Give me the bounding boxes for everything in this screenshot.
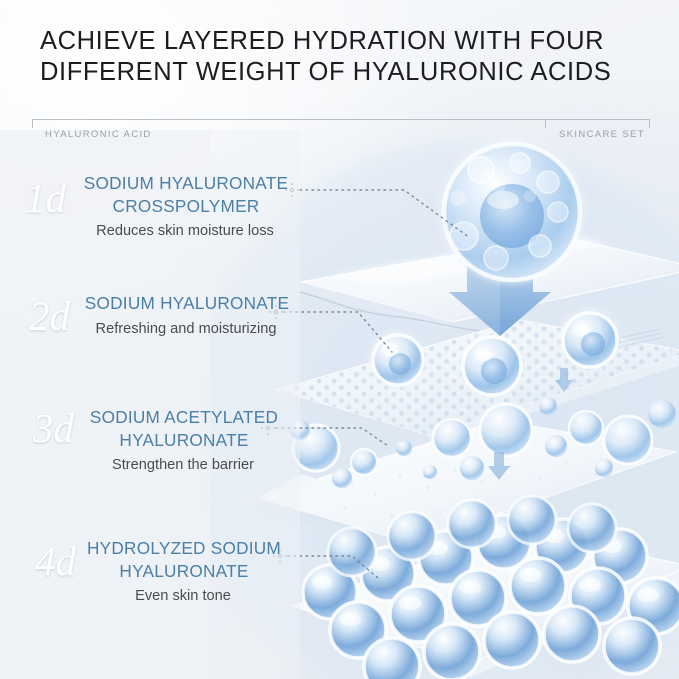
rule-tick-left xyxy=(32,119,33,128)
rule-tick-right xyxy=(649,119,650,128)
ingredient-description-4: Even skin tone xyxy=(25,586,315,607)
ingredient-description-1: Reduces skin moisture loss xyxy=(25,221,315,242)
ingredient-name-2: SODIUM HYALURONATE xyxy=(25,292,315,315)
ingredient-item-4: 4d HYDROLYZED SODIUM HYALURONATE Even sk… xyxy=(25,537,315,607)
page-title: ACHIEVE LAYERED HYDRATION WITH FOUR DIFF… xyxy=(40,26,640,88)
ingredient-name-4: HYDROLYZED SODIUM HYALURONATE xyxy=(25,537,315,582)
rule-line xyxy=(32,119,650,120)
rule-label-skincare-set: SKINCARE SET xyxy=(559,129,645,140)
infographic-poster: ACHIEVE LAYERED HYDRATION WITH FOUR DIFF… xyxy=(0,0,679,679)
ingredient-item-3: 3d SODIUM ACETYLATED HYALURONATE Strengt… xyxy=(25,406,315,476)
rule-label-hyaluronic-acid: HYALURONIC ACID xyxy=(45,129,152,140)
ingredient-item-1: 1d SODIUM HYALURONATE CROSSPOLYMER Reduc… xyxy=(25,172,315,242)
ingredient-description-3: Strengthen the barrier xyxy=(25,455,315,476)
ingredient-item-2: 2d SODIUM HYALURONATE Refreshing and moi… xyxy=(25,292,315,340)
ingredient-description-2: Refreshing and moisturizing xyxy=(25,319,315,340)
rule-tick-middle xyxy=(545,119,546,128)
ingredient-name-3: SODIUM ACETYLATED HYALURONATE xyxy=(25,406,315,451)
header-rule: HYALURONIC ACID SKINCARE SET xyxy=(32,119,650,145)
ingredient-name-1: SODIUM HYALURONATE CROSSPOLYMER xyxy=(25,172,315,217)
